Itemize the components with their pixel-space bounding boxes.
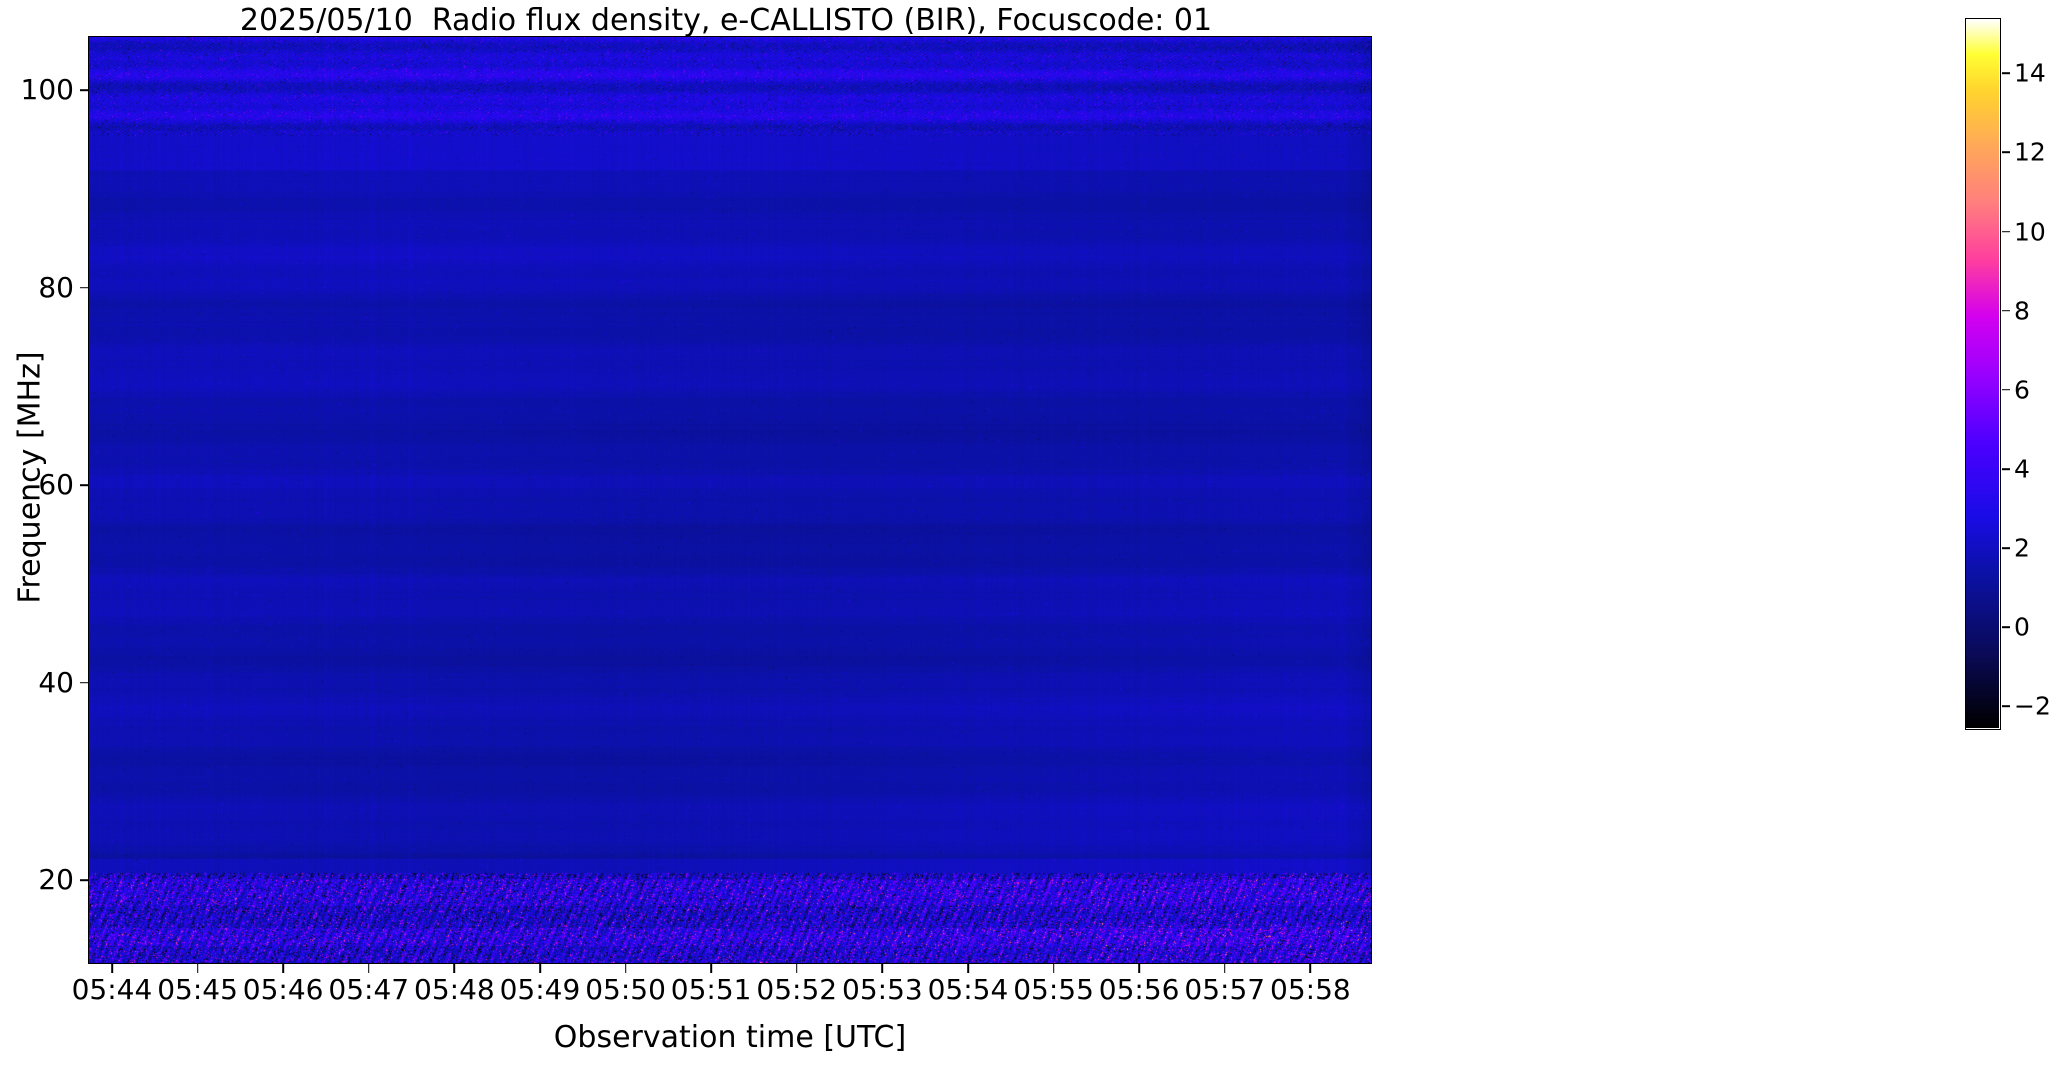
page-title: 2025/05/10 Radio flux density, e-CALLIST…: [0, 4, 1452, 38]
figure-canvas: 2025/05/10 Radio flux density, e-CALLIST…: [0, 0, 2066, 1067]
x-tick-mark: [796, 964, 798, 973]
x-axis-label: Observation time [UTC]: [88, 1020, 1372, 1055]
x-tick-label: 05:55: [1013, 976, 1094, 1004]
x-tick-mark: [1224, 964, 1226, 973]
x-tick-mark: [282, 964, 284, 973]
colorbar-tick-mark: [2002, 152, 2010, 154]
x-tick-label: 05:47: [328, 976, 409, 1004]
spectrogram-image: [89, 37, 1371, 963]
y-tick-mark: [80, 879, 88, 881]
x-tick-mark: [882, 964, 884, 973]
x-tick-label: 05:57: [1184, 976, 1265, 1004]
colorbar-tick-label: 8: [2014, 298, 2030, 323]
colorbar-tick-mark: [2002, 705, 2010, 707]
x-tick-mark: [1138, 964, 1140, 973]
x-tick-label: 05:54: [928, 976, 1009, 1004]
colorbar-tick-mark: [2002, 310, 2010, 312]
y-tick-mark: [80, 287, 88, 289]
x-tick-mark: [1310, 964, 1312, 973]
colorbar-tick-label: 6: [2014, 377, 2030, 402]
x-tick-label: 05:44: [72, 976, 153, 1004]
y-tick-mark: [80, 682, 88, 684]
x-tick-mark: [625, 964, 627, 973]
x-tick-mark: [111, 964, 113, 973]
x-tick-mark: [710, 964, 712, 973]
x-tick-label: 05:45: [157, 976, 238, 1004]
colorbar-tick-label: 14: [2014, 61, 2046, 86]
colorbar-tick-label: 4: [2014, 456, 2030, 481]
x-tick-label: 05:46: [243, 976, 324, 1004]
colorbar-tick-mark: [2002, 73, 2010, 75]
colorbar-gradient: [1966, 19, 1999, 728]
colorbar-tick-label: 12: [2014, 140, 2046, 165]
x-tick-label: 05:51: [671, 976, 752, 1004]
x-tick-label: 05:49: [500, 976, 581, 1004]
x-tick-mark: [197, 964, 199, 973]
x-tick-mark: [539, 964, 541, 973]
colorbar-tick-mark: [2002, 468, 2010, 470]
x-tick-label: 05:48: [414, 976, 495, 1004]
colorbar-tick-mark: [2002, 547, 2010, 549]
y-tick-mark: [80, 90, 88, 92]
colorbar-tick-mark: [2002, 389, 2010, 391]
colorbar-tick-label: 0: [2014, 615, 2030, 640]
spectrogram-axes[interactable]: [88, 36, 1372, 964]
x-tick-label: 05:53: [842, 976, 923, 1004]
colorbar-tick-mark: [2002, 231, 2010, 233]
x-tick-mark: [1053, 964, 1055, 973]
colorbar[interactable]: [1965, 18, 2001, 730]
x-tick-mark: [454, 964, 456, 973]
x-tick-mark: [368, 964, 370, 973]
colorbar-tick-label: −2: [2014, 694, 2051, 719]
x-tick-label: 05:58: [1270, 976, 1351, 1004]
x-tick-label: 05:50: [585, 976, 666, 1004]
y-tick-mark: [80, 484, 88, 486]
y-axis-label: Frequency [MHz]: [13, 8, 48, 948]
colorbar-tick-label: 10: [2014, 219, 2046, 244]
x-tick-label: 05:56: [1099, 976, 1180, 1004]
x-tick-label: 05:52: [756, 976, 837, 1004]
colorbar-tick-label: 2: [2014, 536, 2030, 561]
colorbar-tick-mark: [2002, 626, 2010, 628]
x-tick-mark: [967, 964, 969, 973]
